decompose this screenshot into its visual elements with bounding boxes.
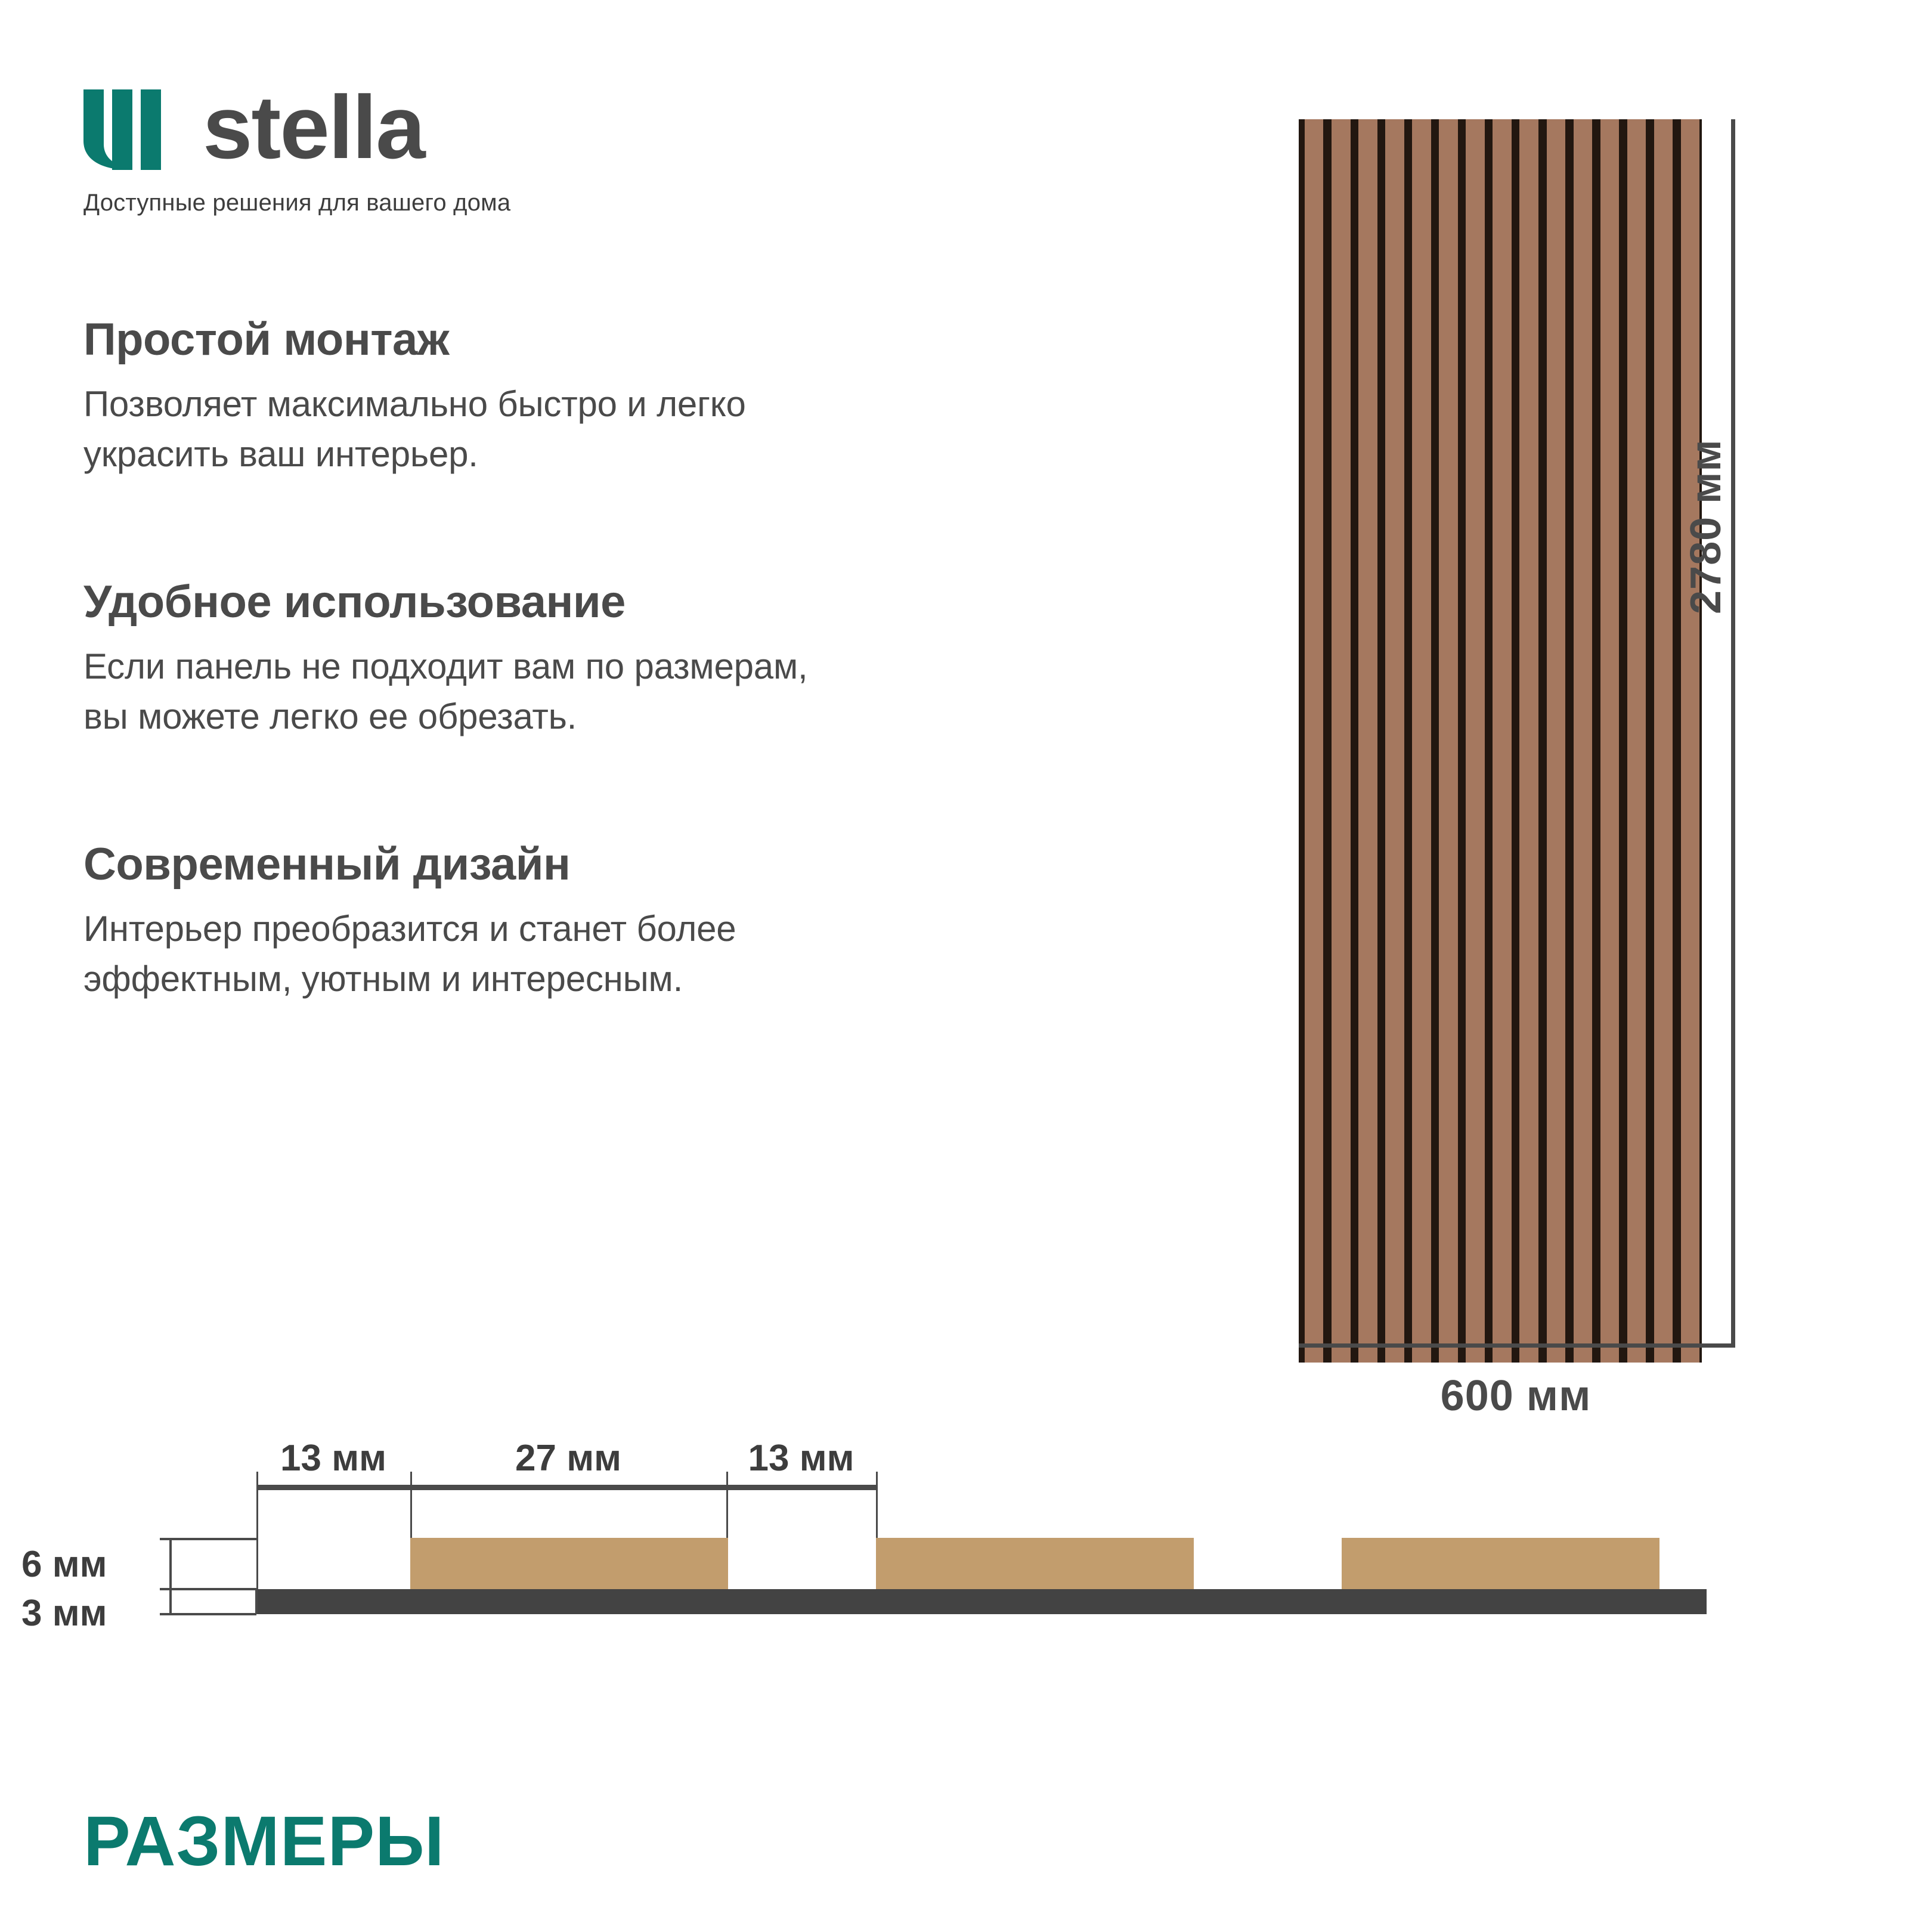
panel-slat: [1332, 119, 1351, 1363]
panel-slat: [1305, 119, 1324, 1363]
feature-title: Современный дизайн: [83, 841, 736, 888]
feature-block-design: Современный дизайн Интерьер преобразится…: [83, 841, 736, 1004]
panel-slat: [1654, 119, 1673, 1363]
groove-width-label: 13 мм: [256, 1437, 410, 1479]
stella-bars-logo-icon: [83, 89, 191, 170]
panel-width-label: 600 мм: [1299, 1371, 1733, 1420]
feature-title: Простой монтаж: [83, 316, 746, 364]
brand-logo: stella Доступные решения для вашего дома: [83, 89, 537, 239]
panel-slat: [1358, 119, 1377, 1363]
panel-slat: [1493, 119, 1512, 1363]
panel-slat: [1519, 119, 1538, 1363]
section-guide-line: [256, 1490, 258, 1589]
feature-body-line: Если панель не подходит вам по размерам,: [83, 642, 808, 692]
height-dimension-axis: [169, 1538, 172, 1614]
section-guide-line: [410, 1490, 412, 1538]
panel-slat: [1627, 119, 1646, 1363]
slat-height-label: 6 мм: [21, 1543, 107, 1586]
dimension-tick: [876, 1472, 878, 1491]
cross-section-slat: [876, 1538, 1194, 1589]
brand-name: stella: [203, 82, 425, 172]
base-thickness-label: 3 мм: [21, 1592, 107, 1634]
feature-body-line: Позволяет максимально быстро и легко: [83, 379, 746, 429]
panel-slat: [1466, 119, 1485, 1363]
feature-body-line: эффектным, уютным и интересным.: [83, 954, 736, 1004]
feature-block-installation: Простой монтаж Позволяет максимально быс…: [83, 316, 746, 479]
feature-body-line: вы можете легко ее обрезать.: [83, 692, 808, 742]
brand-tagline: Доступные решения для вашего дома: [83, 190, 510, 216]
cross-section-base-layer: [256, 1589, 1707, 1614]
panel-width-dimension-line: [1299, 1343, 1735, 1348]
page-title: РАЗМЕРЫ: [83, 1801, 445, 1882]
wood-slat-panel-image: [1299, 119, 1702, 1363]
section-guide-line: [726, 1490, 728, 1538]
cross-section-slat: [1342, 1538, 1659, 1589]
panel-slat: [1385, 119, 1404, 1363]
cross-section-diagram: 13 мм 27 мм 13 мм 6 мм 3 мм: [0, 1419, 1932, 1670]
panel-slat: [1681, 119, 1700, 1363]
dimension-tick: [160, 1588, 256, 1590]
panel-height-dimension-line: [1731, 119, 1735, 1348]
panel-slat: [1439, 119, 1458, 1363]
panel-slat: [1412, 119, 1431, 1363]
feature-body-line: Интерьер преобразится и станет более: [83, 904, 736, 954]
slat-width-label: 27 мм: [410, 1437, 726, 1479]
base-edge-line: [255, 1588, 258, 1614]
dimension-tick: [160, 1613, 256, 1615]
feature-block-usage: Удобное использование Если панель не под…: [83, 578, 808, 742]
dimension-tick: [160, 1538, 256, 1540]
cross-section-slat: [410, 1538, 728, 1589]
panel-slat: [1574, 119, 1593, 1363]
panel-slat: [1600, 119, 1620, 1363]
groove-width-label-2: 13 мм: [726, 1437, 876, 1479]
panel-slat: [1547, 119, 1566, 1363]
feature-body-line: украсить ваш интерьер.: [83, 429, 746, 479]
cross-section-top-dimension-bar: [256, 1485, 878, 1490]
feature-title: Удобное использование: [83, 578, 808, 626]
panel-height-label: 2780 мм: [1682, 439, 1730, 614]
